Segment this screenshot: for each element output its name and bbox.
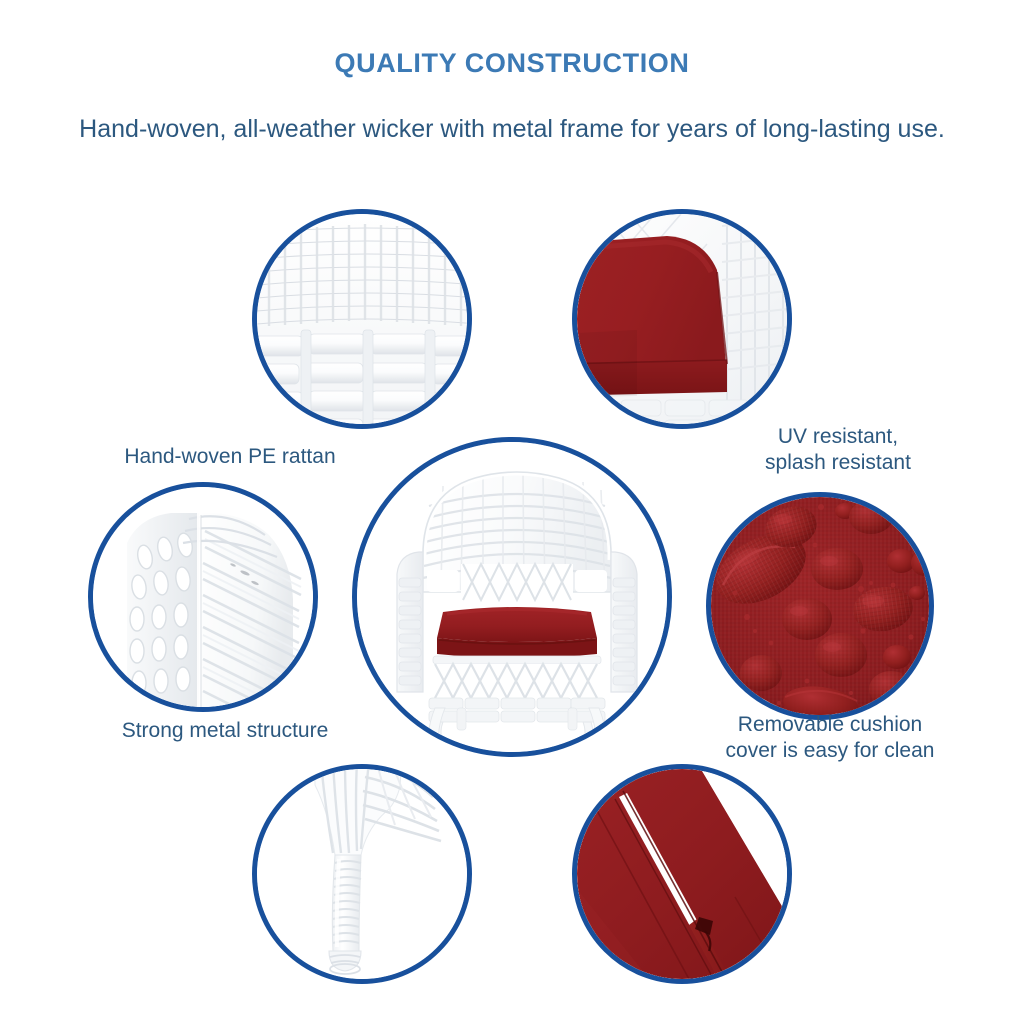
caption-strong-metal-structure: Strong metal structure (55, 718, 395, 744)
armrest-weave-image (93, 487, 313, 707)
page-title: QUALITY CONSTRUCTION (0, 48, 1024, 79)
infographic-page: QUALITY CONSTRUCTION Hand-woven, all-wea… (0, 0, 1024, 1024)
feature-circle-strong-metal-structure (88, 482, 318, 712)
feature-circle-removable-cushion-cover (706, 492, 934, 720)
rattan-weave-image (257, 214, 467, 424)
caption-uv-splash-resistant: UV resistant, splash resistant (718, 424, 958, 476)
feature-circle-uv-splash-resistant (572, 209, 792, 429)
caption-removable-cushion-cover: Removable cushion cover is easy for clea… (690, 712, 970, 764)
feature-circle-cushion-zipper (572, 764, 792, 984)
feature-circle-hand-woven-pe-rattan (252, 209, 472, 429)
page-subtitle: Hand-woven, all-weather wicker with meta… (0, 115, 1024, 144)
caption-hand-woven-pe-rattan: Hand-woven PE rattan (60, 444, 400, 470)
wicker-armchair-image (357, 442, 667, 752)
chair-leg-image (257, 769, 467, 979)
water-droplets-image (711, 497, 929, 715)
cushion-zipper-image (577, 769, 787, 979)
cushion-corner-image (577, 214, 787, 424)
feature-circle-wicker-wrapped-leg (252, 764, 472, 984)
feature-circle-product-hero (352, 437, 672, 757)
